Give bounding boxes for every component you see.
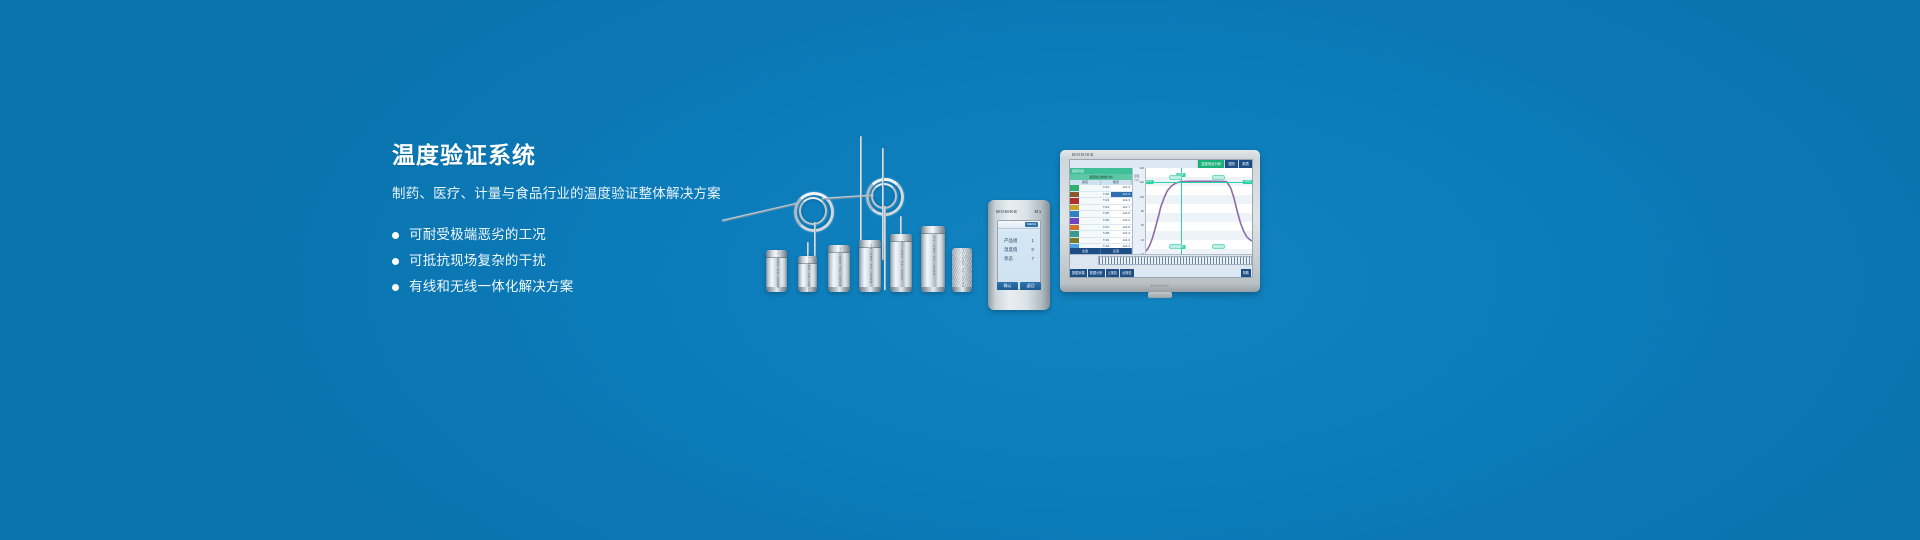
bullet-dot-icon [392, 258, 399, 265]
channel-value-cell: 121.4 [1111, 231, 1132, 237]
logger-etching: PT-100 VL-2010 [775, 250, 779, 289]
data-logger-5: PT-100 VL-2010 [890, 234, 912, 292]
channel-color-swatch [1070, 198, 1079, 204]
data-logger-1: PT-100 VL-2010 [766, 250, 787, 292]
range-handle[interactable] [1212, 175, 1225, 181]
lcd-row-value: 7 [1031, 254, 1034, 263]
handheld-reader[interactable]: MONIKE M1 MENU 产品组 1 温度值 0 [988, 200, 1050, 310]
channel-value-cell: 121.2 [1111, 218, 1132, 224]
channel-color-swatch [1070, 225, 1079, 231]
software-footer-bar: 数据采集 数据分析 上报告 出报告 帮助 [1070, 269, 1252, 277]
logger-etching: PT-100 VL-2010 [837, 247, 841, 286]
feature-label: 可抵抗现场复杂的干扰 [409, 248, 546, 274]
range-handle[interactable] [1169, 244, 1182, 250]
range-handle[interactable] [1212, 244, 1225, 250]
feature-label: 有线和无线一体化解决方案 [409, 274, 573, 300]
logger-base [921, 287, 945, 292]
level-marker[interactable]: 121.0 [1243, 180, 1253, 184]
long-probe-1 [860, 136, 862, 256]
handheld-model: M1 [1035, 209, 1042, 214]
y-axis-tick: 140 [1139, 166, 1144, 170]
y-axis: 温度 (°C) 20406080100120140 [1133, 168, 1146, 254]
data-logger-7-sintered: PT-100 VL-2010 [952, 248, 972, 292]
channel-color-swatch [1070, 211, 1079, 217]
channel-value-cell: 121.3 [1111, 198, 1132, 204]
data-logger-3: PT-100 VL-2010 [828, 245, 850, 292]
hero-copy: 温度验证系统 制药、医疗、计量与食品行业的温度验证整体解决方案 可耐受极端恶劣的… [392, 140, 752, 300]
y-axis-tick: 100 [1139, 195, 1144, 199]
channel-value-cell: 121.8 [1111, 225, 1132, 231]
table-row[interactable]: T-01121.4 [1070, 185, 1132, 192]
handheld-brand: MONIKE [996, 209, 1018, 214]
channel-name-cell: T-06 [1079, 218, 1111, 224]
lcd-statusbar: MENU [998, 221, 1040, 229]
logger-base [859, 287, 881, 292]
tab-graph[interactable]: 图形 [1224, 160, 1238, 168]
table-row[interactable]: T-09121.6 [1070, 238, 1132, 245]
channel-color-swatch [1070, 231, 1079, 237]
handheld-lcd-screen[interactable]: MENU 产品组 1 温度值 0 状态 7 [997, 220, 1041, 290]
plot-canvas[interactable]: 开始开始结束结束121.0121.0 [1146, 168, 1252, 254]
handheld-back-button[interactable]: 返回 [1020, 282, 1041, 290]
logger-etching: PT-100 VL-2010 [806, 253, 810, 292]
software-screen: 温度验证分析 图形 报表 通道列表 温度验证数据分析 通道 数值 T-01121… [1069, 159, 1253, 278]
analyze-data-button[interactable]: 数据分析 [1088, 269, 1105, 277]
y-axis-tick: 40 [1141, 238, 1144, 242]
lcd-row-value: 0 [1031, 245, 1034, 254]
handheld-softkey-bar: 确认 返回 [997, 282, 1041, 290]
logger-cap [921, 226, 945, 234]
level-line[interactable] [1146, 182, 1252, 183]
table-row[interactable]: T-04121.7 [1070, 205, 1132, 212]
logger-etching: PT-100 VL-2010 [960, 249, 964, 288]
long-probe-2 [882, 148, 884, 260]
collect-data-button[interactable]: 数据采集 [1070, 269, 1087, 277]
lcd-row-value: 1 [1031, 236, 1034, 245]
export-report-button[interactable]: 出报告 [1120, 269, 1134, 277]
channel-name-cell: T-04 [1079, 205, 1111, 211]
table-row[interactable]: T-02121.6 [1070, 192, 1132, 199]
tab-report[interactable]: 报表 [1238, 160, 1252, 168]
list-item: 可耐受极端恶劣的工况 [392, 222, 752, 248]
help-button[interactable]: 帮助 [1241, 269, 1251, 277]
channel-name-cell: T-03 [1079, 198, 1111, 204]
y-axis-tick: 120 [1139, 180, 1144, 184]
validation-software-monitor: MONIKE MONIKE 温度验证分析 图形 报表 通道列表 温度验证数据分析 [1060, 150, 1260, 292]
channel-panel: 通道列表 温度验证数据分析 通道 数值 T-01121.4T-02121.6T-… [1070, 168, 1133, 254]
logger-etching: PT-100 VL-2010 [899, 241, 903, 280]
monitor-bezel-logo: MONIKE [1151, 283, 1170, 288]
software-body: 通道列表 温度验证数据分析 通道 数值 T-01121.4T-02121.6T-… [1070, 168, 1252, 254]
table-row[interactable]: T-05121.5 [1070, 211, 1132, 218]
channel-color-swatch [1070, 192, 1079, 198]
monitor-stand-neck [1148, 292, 1172, 298]
table-row[interactable]: T-07121.8 [1070, 225, 1132, 232]
channel-name-cell: T-05 [1079, 211, 1111, 217]
data-logger-2: PT-100 VL-2010 [798, 256, 817, 292]
chart-area: 温度 (°C) 20406080100120140 开始开始结束结束121.01… [1133, 168, 1252, 254]
bullet-dot-icon [392, 284, 399, 291]
toolbar-spacer [1070, 160, 1197, 168]
channel-name-cell: T-08 [1079, 231, 1111, 237]
channel-value-cell: 121.6 [1111, 192, 1132, 198]
software-toolbar: 温度验证分析 图形 报表 [1070, 160, 1252, 168]
page-title: 温度验证系统 [392, 140, 752, 170]
upload-report-button[interactable]: 上报告 [1106, 269, 1120, 277]
time-tick-strip[interactable] [1098, 256, 1252, 265]
level-marker[interactable]: 121.0 [1146, 180, 1153, 184]
channel-table-rows: T-01121.4T-02121.6T-03121.3T-04121.7T-05… [1070, 185, 1132, 248]
channel-name-cell: T-07 [1079, 225, 1111, 231]
table-row[interactable]: T-06121.2 [1070, 218, 1132, 225]
list-item: 产品组 1 [1004, 236, 1034, 245]
data-logger-6: PT-100 VL-2010 [921, 226, 945, 292]
y-axis-tick: 80 [1141, 209, 1144, 213]
list-item: 温度值 0 [1004, 245, 1034, 254]
lcd-readout-list: 产品组 1 温度值 0 状态 7 [998, 229, 1040, 263]
sensor-coil-inner-icon [799, 197, 827, 225]
data-logger-4: PT-100 VL-2010 [859, 240, 881, 292]
table-row[interactable]: T-08121.4 [1070, 231, 1132, 238]
list-item: 状态 7 [1004, 254, 1034, 263]
product-group: PT-100 VL-2010 PT-100 VL-2010 PT-100 VL-… [700, 120, 1240, 320]
list-item: 可抵抗现场复杂的干扰 [392, 248, 752, 274]
logger-stem [900, 216, 902, 234]
handheld-confirm-button[interactable]: 确认 [997, 282, 1018, 290]
tab-analysis[interactable]: 温度验证分析 [1197, 160, 1224, 168]
channel-value-cell: 121.6 [1111, 238, 1132, 244]
feature-list: 可耐受极端恶劣的工况 可抵抗现场复杂的干扰 有线和无线一体化解决方案 [392, 222, 752, 300]
channel-value-cell: 121.5 [1111, 211, 1132, 217]
channel-color-swatch [1070, 218, 1079, 224]
footer-spacer [1135, 269, 1241, 277]
hero-subtitle: 制药、医疗、计量与食品行业的温度验证整体解决方案 [392, 184, 752, 204]
monitor-brand: MONIKE [1072, 152, 1094, 157]
logger-base [952, 287, 972, 292]
bullet-dot-icon [392, 232, 399, 239]
feature-label: 可耐受极端恶劣的工况 [409, 222, 546, 248]
lcd-row-label: 状态 [1004, 254, 1013, 263]
sensor-lead [884, 206, 886, 290]
lcd-row-label: 温度值 [1004, 245, 1018, 254]
logger-etching: PT-100 VL-2010 [868, 244, 872, 283]
hero-banner: 温度验证系统 制药、医疗、计量与食品行业的温度验证整体解决方案 可耐受极端恶劣的… [0, 0, 1920, 540]
channel-name-cell: T-01 [1079, 185, 1111, 191]
logger-base [890, 287, 912, 292]
handheld-brand-row: MONIKE M1 [996, 209, 1042, 214]
y-axis-tick: 60 [1141, 223, 1144, 227]
channel-name-cell: T-02 [1079, 192, 1111, 198]
list-item: 有线和无线一体化解决方案 [392, 274, 752, 300]
sensor-wire [722, 202, 798, 221]
lcd-row-label: 产品组 [1004, 236, 1018, 245]
channel-color-swatch [1070, 238, 1079, 244]
channel-color-swatch [1070, 205, 1079, 211]
range-handle[interactable] [1169, 175, 1182, 181]
channel-value-cell: 121.4 [1111, 185, 1132, 191]
channel-color-swatch [1070, 185, 1079, 191]
time-scrollbar[interactable] [1070, 254, 1252, 269]
logger-base [828, 287, 850, 292]
temperature-curve [1146, 181, 1252, 251]
channel-name-cell: T-09 [1079, 238, 1111, 244]
logger-etching: PT-100 VL-2010 [931, 237, 935, 276]
channel-value-cell: 121.7 [1111, 205, 1132, 211]
lcd-menu-chip[interactable]: MENU [1025, 222, 1038, 227]
table-row[interactable]: T-03121.3 [1070, 198, 1132, 205]
